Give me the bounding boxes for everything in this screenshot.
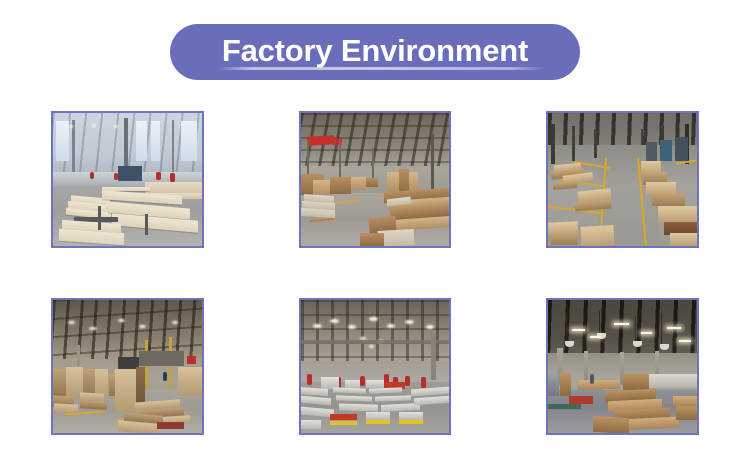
underline-accent-icon	[218, 67, 544, 70]
factory-scene-6	[548, 300, 697, 433]
gallery-photo-1[interactable]	[51, 111, 204, 248]
title-banner: Factory Environment	[170, 24, 580, 80]
gallery-photo-5[interactable]	[299, 298, 452, 435]
gallery-photo-4[interactable]	[51, 298, 204, 435]
factory-scene-3	[548, 113, 697, 246]
photo-gallery	[11, 95, 739, 451]
factory-scene-1	[53, 113, 202, 246]
gallery-photo-6[interactable]	[546, 298, 699, 435]
factory-scene-5	[301, 300, 450, 433]
factory-scene-2	[301, 113, 450, 246]
gallery-photo-3[interactable]	[546, 111, 699, 248]
page-title: Factory Environment	[222, 35, 528, 66]
factory-scene-4	[53, 300, 202, 433]
gallery-photo-2[interactable]	[299, 111, 452, 248]
header: Factory Environment	[0, 0, 750, 92]
